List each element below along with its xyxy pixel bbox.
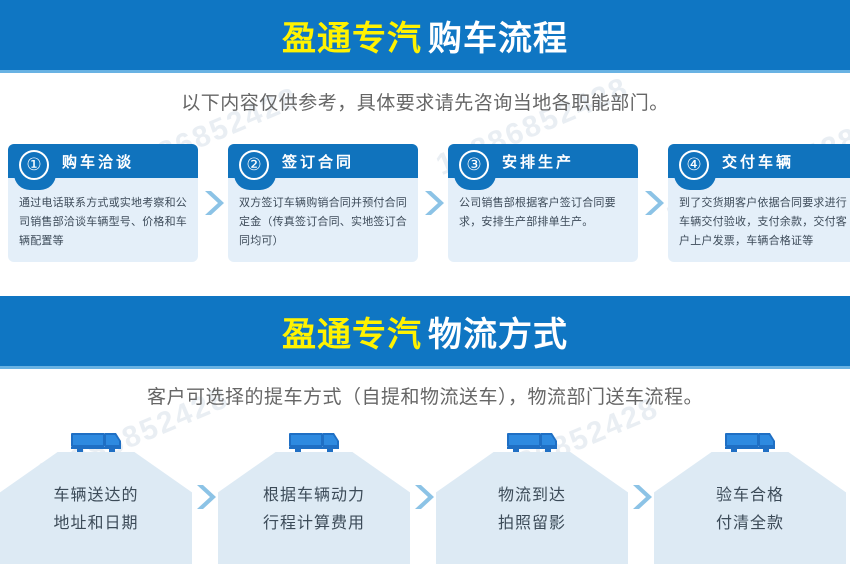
banner-subject: 物流方式 bbox=[428, 316, 568, 354]
step-title: 签订合同 bbox=[282, 151, 354, 172]
step-number-badge: ④ bbox=[679, 150, 709, 180]
truck-icon bbox=[287, 430, 341, 456]
chevron-right-icon bbox=[628, 430, 654, 564]
logistics-line-2: 行程计算费用 bbox=[218, 510, 410, 538]
logistics-card-1[interactable]: 车辆送达的 地址和日期 bbox=[0, 430, 192, 564]
step-header: ④ 交付车辆 bbox=[668, 144, 850, 178]
logistics-banner: 盈通专汽物流方式 bbox=[0, 296, 850, 369]
logistics-card-text: 车辆送达的 地址和日期 bbox=[0, 482, 192, 538]
step-header: ③ 安排生产 bbox=[448, 144, 638, 178]
purchase-process-banner: 盈通专汽购车流程 bbox=[0, 0, 850, 73]
logistics-line-2: 付清全款 bbox=[654, 510, 846, 538]
step-description: 通过电话联系方式或实地考察和公司销售部洽谈车辆型号、价格和车辆配置等 bbox=[8, 178, 198, 259]
chevron-right-icon bbox=[410, 430, 436, 564]
step-description: 到了交货期客户依据合同要求进行车辆交付验收，支付余款，交付客户上户发票，车辆合格… bbox=[668, 178, 850, 259]
logistics-card-4[interactable]: 验车合格 付清全款 bbox=[654, 430, 846, 564]
logistics-line-1: 车辆送达的 bbox=[0, 482, 192, 510]
step-card-4[interactable]: ④ 交付车辆 到了交货期客户依据合同要求进行车辆交付验收，支付余款，交付客户上户… bbox=[668, 144, 850, 262]
purchase-steps-row: ① 购车洽谈 通过电话联系方式或实地考察和公司销售部洽谈车辆型号、价格和车辆配置… bbox=[0, 144, 850, 264]
logistics-card-text: 物流到达 拍照留影 bbox=[436, 482, 628, 538]
step-card-3[interactable]: ③ 安排生产 公司销售部根据客户签订合同要求，安排生产部排单生产。 bbox=[448, 144, 638, 262]
truck-icon bbox=[505, 430, 559, 456]
logistics-line-1: 根据车辆动力 bbox=[218, 482, 410, 510]
step-number-badge: ② bbox=[239, 150, 269, 180]
step-title: 购车洽谈 bbox=[62, 151, 134, 172]
brand-name: 盈通专汽 bbox=[282, 316, 422, 354]
logistics-card-text: 根据车辆动力 行程计算费用 bbox=[218, 482, 410, 538]
purchase-process-caption: 以下内容仅供参考，具体要求请先咨询当地各职能部门。 bbox=[0, 88, 850, 115]
step-description: 双方签订车辆购销合同并预付合同定金（传真签订合同、实地签订合同均可） bbox=[228, 178, 418, 259]
logistics-line-1: 物流到达 bbox=[436, 482, 628, 510]
logistics-line-2: 地址和日期 bbox=[0, 510, 192, 538]
chevron-right-icon bbox=[638, 144, 668, 262]
step-number-badge: ③ bbox=[459, 150, 489, 180]
logistics-card-2[interactable]: 根据车辆动力 行程计算费用 bbox=[218, 430, 410, 564]
banner-title: 盈通专汽购车流程 bbox=[282, 11, 568, 60]
step-header: ① 购车洽谈 bbox=[8, 144, 198, 178]
step-card-2[interactable]: ② 签订合同 双方签订车辆购销合同并预付合同定金（传真签订合同、实地签订合同均可… bbox=[228, 144, 418, 262]
chevron-right-icon bbox=[198, 144, 228, 262]
truck-icon bbox=[723, 430, 777, 456]
brand-name: 盈通专汽 bbox=[282, 20, 422, 58]
step-number-badge: ① bbox=[19, 150, 49, 180]
chevron-right-icon bbox=[418, 144, 448, 262]
logistics-card-3[interactable]: 物流到达 拍照留影 bbox=[436, 430, 628, 564]
banner-subject: 购车流程 bbox=[428, 20, 568, 58]
logistics-caption: 客户可选择的提车方式（自提和物流送车），物流部门送车流程。 bbox=[0, 382, 850, 409]
banner-title: 盈通专汽物流方式 bbox=[282, 307, 568, 356]
logistics-card-text: 验车合格 付清全款 bbox=[654, 482, 846, 538]
step-title: 交付车辆 bbox=[722, 151, 794, 172]
step-header: ② 签订合同 bbox=[228, 144, 418, 178]
chevron-right-icon bbox=[192, 430, 218, 564]
step-title: 安排生产 bbox=[502, 151, 574, 172]
logistics-line-2: 拍照留影 bbox=[436, 510, 628, 538]
truck-icon bbox=[69, 430, 123, 456]
step-card-1[interactable]: ① 购车洽谈 通过电话联系方式或实地考察和公司销售部洽谈车辆型号、价格和车辆配置… bbox=[8, 144, 198, 262]
logistics-cards-row: 车辆送达的 地址和日期 根据车辆动力 行程计算费用 bbox=[0, 430, 850, 564]
logistics-line-1: 验车合格 bbox=[654, 482, 846, 510]
